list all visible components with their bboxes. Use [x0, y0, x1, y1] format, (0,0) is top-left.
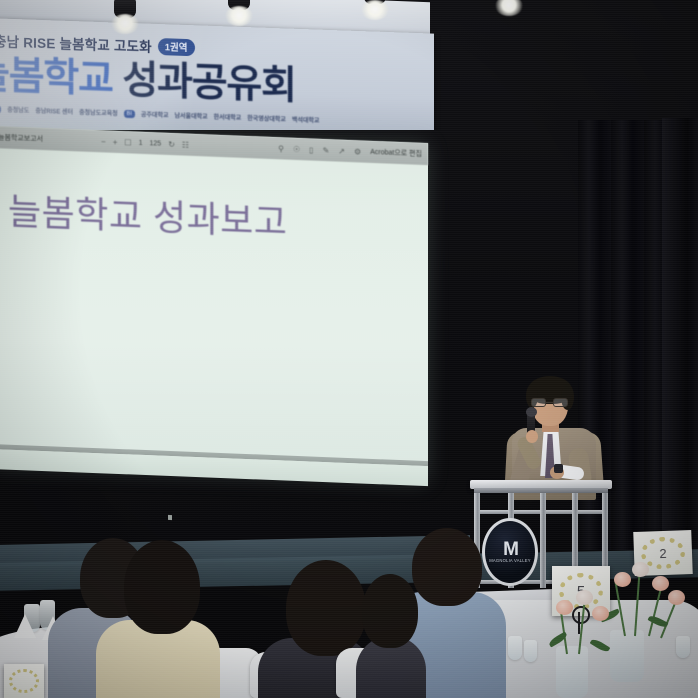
spotlight-4: [492, 0, 526, 22]
zoom-out-icon[interactable]: −: [101, 137, 106, 146]
projection-screen: 늘봄학교보고서 − + ☐ 1 125 ↻ ☷ ⚲ ☉ ▯ ✎ ↗ ⚙ Acro…: [0, 126, 428, 483]
emblem-text: MAGNOLIA VALLEY: [489, 558, 531, 563]
comment-icon[interactable]: ☉: [293, 144, 300, 153]
water-glass-right-2: [676, 636, 690, 658]
flower-bloom: [576, 590, 593, 605]
sponsor-chip-2: BI: [124, 109, 135, 117]
vase-center: [556, 646, 588, 698]
wine-glass-right: [508, 636, 522, 660]
sponsor-chip-1: BI: [0, 105, 1, 113]
emblem-letter: M: [503, 541, 517, 558]
spotlight-3: [358, 0, 392, 26]
sponsor-logo-5: 한서대학교: [214, 112, 242, 122]
audience-4-head: [412, 528, 482, 606]
banner-title: 늘봄학교 성과공유회: [0, 44, 434, 116]
event-banner: 충남 RISE 늘봄학교 고도화 1권역 늘봄학교 성과공유회 BI 충청남도 …: [0, 18, 434, 130]
flower-bloom: [592, 606, 609, 621]
water-glass-right: [524, 640, 537, 662]
table-number-2: 2: [659, 545, 667, 560]
ceiling-band: 충남 RISE 늘봄학교 고도화 1권역 늘봄학교 성과공유회 BI 충청남도 …: [0, 0, 698, 130]
fit-page-icon[interactable]: ☐: [124, 138, 131, 147]
stage-curtain-edge: [662, 118, 698, 553]
banner-title-part1: 늘봄학교: [0, 54, 113, 102]
flower-bloom: [614, 572, 631, 587]
slide-artifact: [168, 515, 172, 520]
highlight-icon[interactable]: ▯: [309, 145, 313, 154]
zoom-in-icon[interactable]: +: [113, 137, 118, 146]
folded-napkin-1: [14, 614, 36, 638]
sponsor-logo-4: 남서울대학교: [175, 111, 208, 121]
banner-region-badge: 1권역: [158, 37, 195, 55]
presentation-clicker-icon: [554, 464, 563, 473]
rotate-icon[interactable]: ↻: [168, 139, 175, 148]
share-icon[interactable]: ↗: [338, 146, 345, 155]
podium-emblem: M MAGNOLIA VALLEY: [482, 518, 538, 586]
presenter-hand-left: [526, 430, 538, 443]
document-name-label: 늘봄학교보고서: [0, 132, 43, 144]
wreath-icon-3: [9, 669, 39, 694]
vase-right: [610, 630, 644, 682]
sponsor-logo-0: 충청남도: [7, 105, 29, 115]
sign-icon[interactable]: ✎: [323, 145, 330, 154]
audience-3-head: [286, 560, 366, 656]
flower-bloom: [556, 600, 573, 615]
banner-title-part2: 성과공유회: [122, 59, 295, 108]
toolbar-zoom-group[interactable]: − + ☐ 1 125 ↻ ☷: [101, 137, 189, 149]
podium-leg-3: [540, 493, 546, 588]
audience-5-head: [362, 574, 418, 648]
sponsor-logo-2: 충청남도교육청: [79, 107, 118, 117]
spotlight-2: [222, 0, 256, 32]
gear-icon[interactable]: ⚙: [354, 147, 361, 156]
menu-card-left: [4, 664, 44, 698]
flower-bloom: [652, 576, 669, 591]
audience-2-head: [124, 540, 200, 634]
photo-scene: 충남 RISE 늘봄학교 고도화 1권역 늘봄학교 성과공유회 BI 충청남도 …: [0, 0, 698, 698]
page-layout-icon[interactable]: ☷: [182, 140, 189, 149]
sponsor-logo-3: 공주대학교: [141, 109, 169, 119]
toolbar-right-group[interactable]: ⚲ ☉ ▯ ✎ ↗ ⚙ Acrobat으로 편집: [278, 143, 422, 159]
page-number-field[interactable]: 1: [139, 139, 143, 146]
banner-subtitle-row: 충남 RISE 늘봄학교 고도화 1권역: [0, 30, 424, 65]
sponsor-logo-7: 백석대학교: [292, 115, 320, 125]
search-icon[interactable]: ⚲: [278, 144, 284, 153]
flower-bloom: [668, 590, 685, 605]
spotlight-1: [108, 6, 142, 40]
edit-with-acrobat-button[interactable]: Acrobat으로 편집: [370, 147, 422, 159]
flower-bloom: [632, 562, 649, 577]
glasses-icon: [531, 398, 569, 407]
zoom-level-field[interactable]: 125: [150, 140, 162, 147]
slide-title: 늘봄학교 성과보고: [8, 183, 287, 246]
banner-sponsor-logos: BI 충청남도 충남RISE 센터 충청남도교육청 BI 공주대학교 남서울대학…: [0, 100, 430, 130]
sponsor-logo-6: 한국영상대학교: [247, 113, 286, 123]
sponsor-logo-1: 충남RISE 센터: [35, 106, 73, 116]
